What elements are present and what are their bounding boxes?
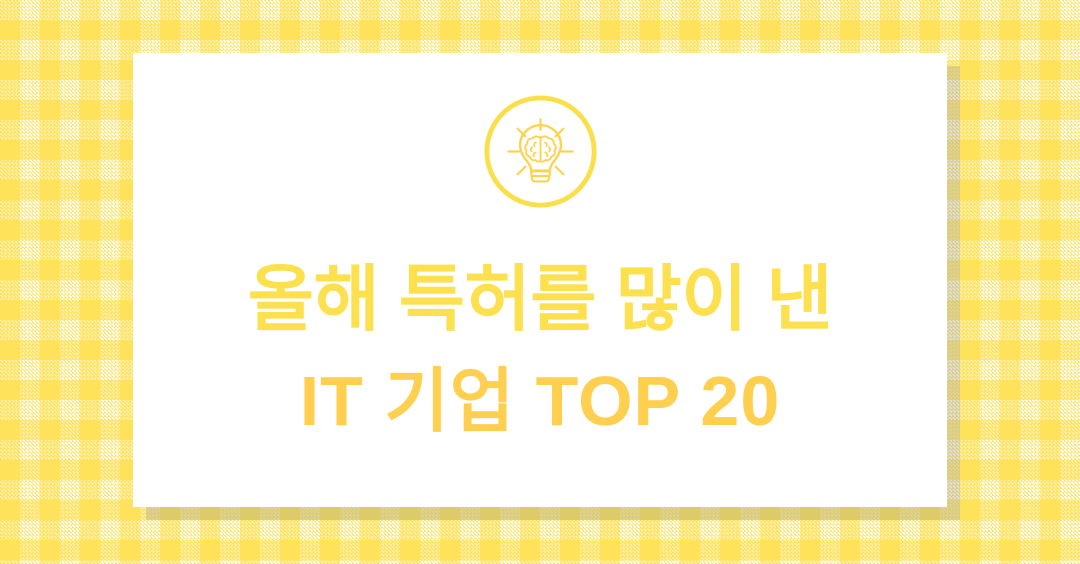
poster-canvas: 올해 특허를 많이 낸 IT 기업 TOP 20	[0, 0, 1080, 564]
headline-line-1: 올해 특허를 많이 낸	[133, 264, 947, 336]
headline-block: 올해 특허를 많이 낸 IT 기업 TOP 20	[133, 264, 947, 436]
content-card: 올해 특허를 많이 낸 IT 기업 TOP 20	[133, 53, 947, 507]
bulb-base	[530, 171, 549, 181]
headline-line-2: IT 기업 TOP 20	[133, 366, 947, 436]
card-inner: 올해 특허를 많이 낸 IT 기업 TOP 20	[133, 53, 947, 507]
lightbulb-brain-icon	[482, 93, 599, 210]
brain-motif	[525, 136, 556, 161]
